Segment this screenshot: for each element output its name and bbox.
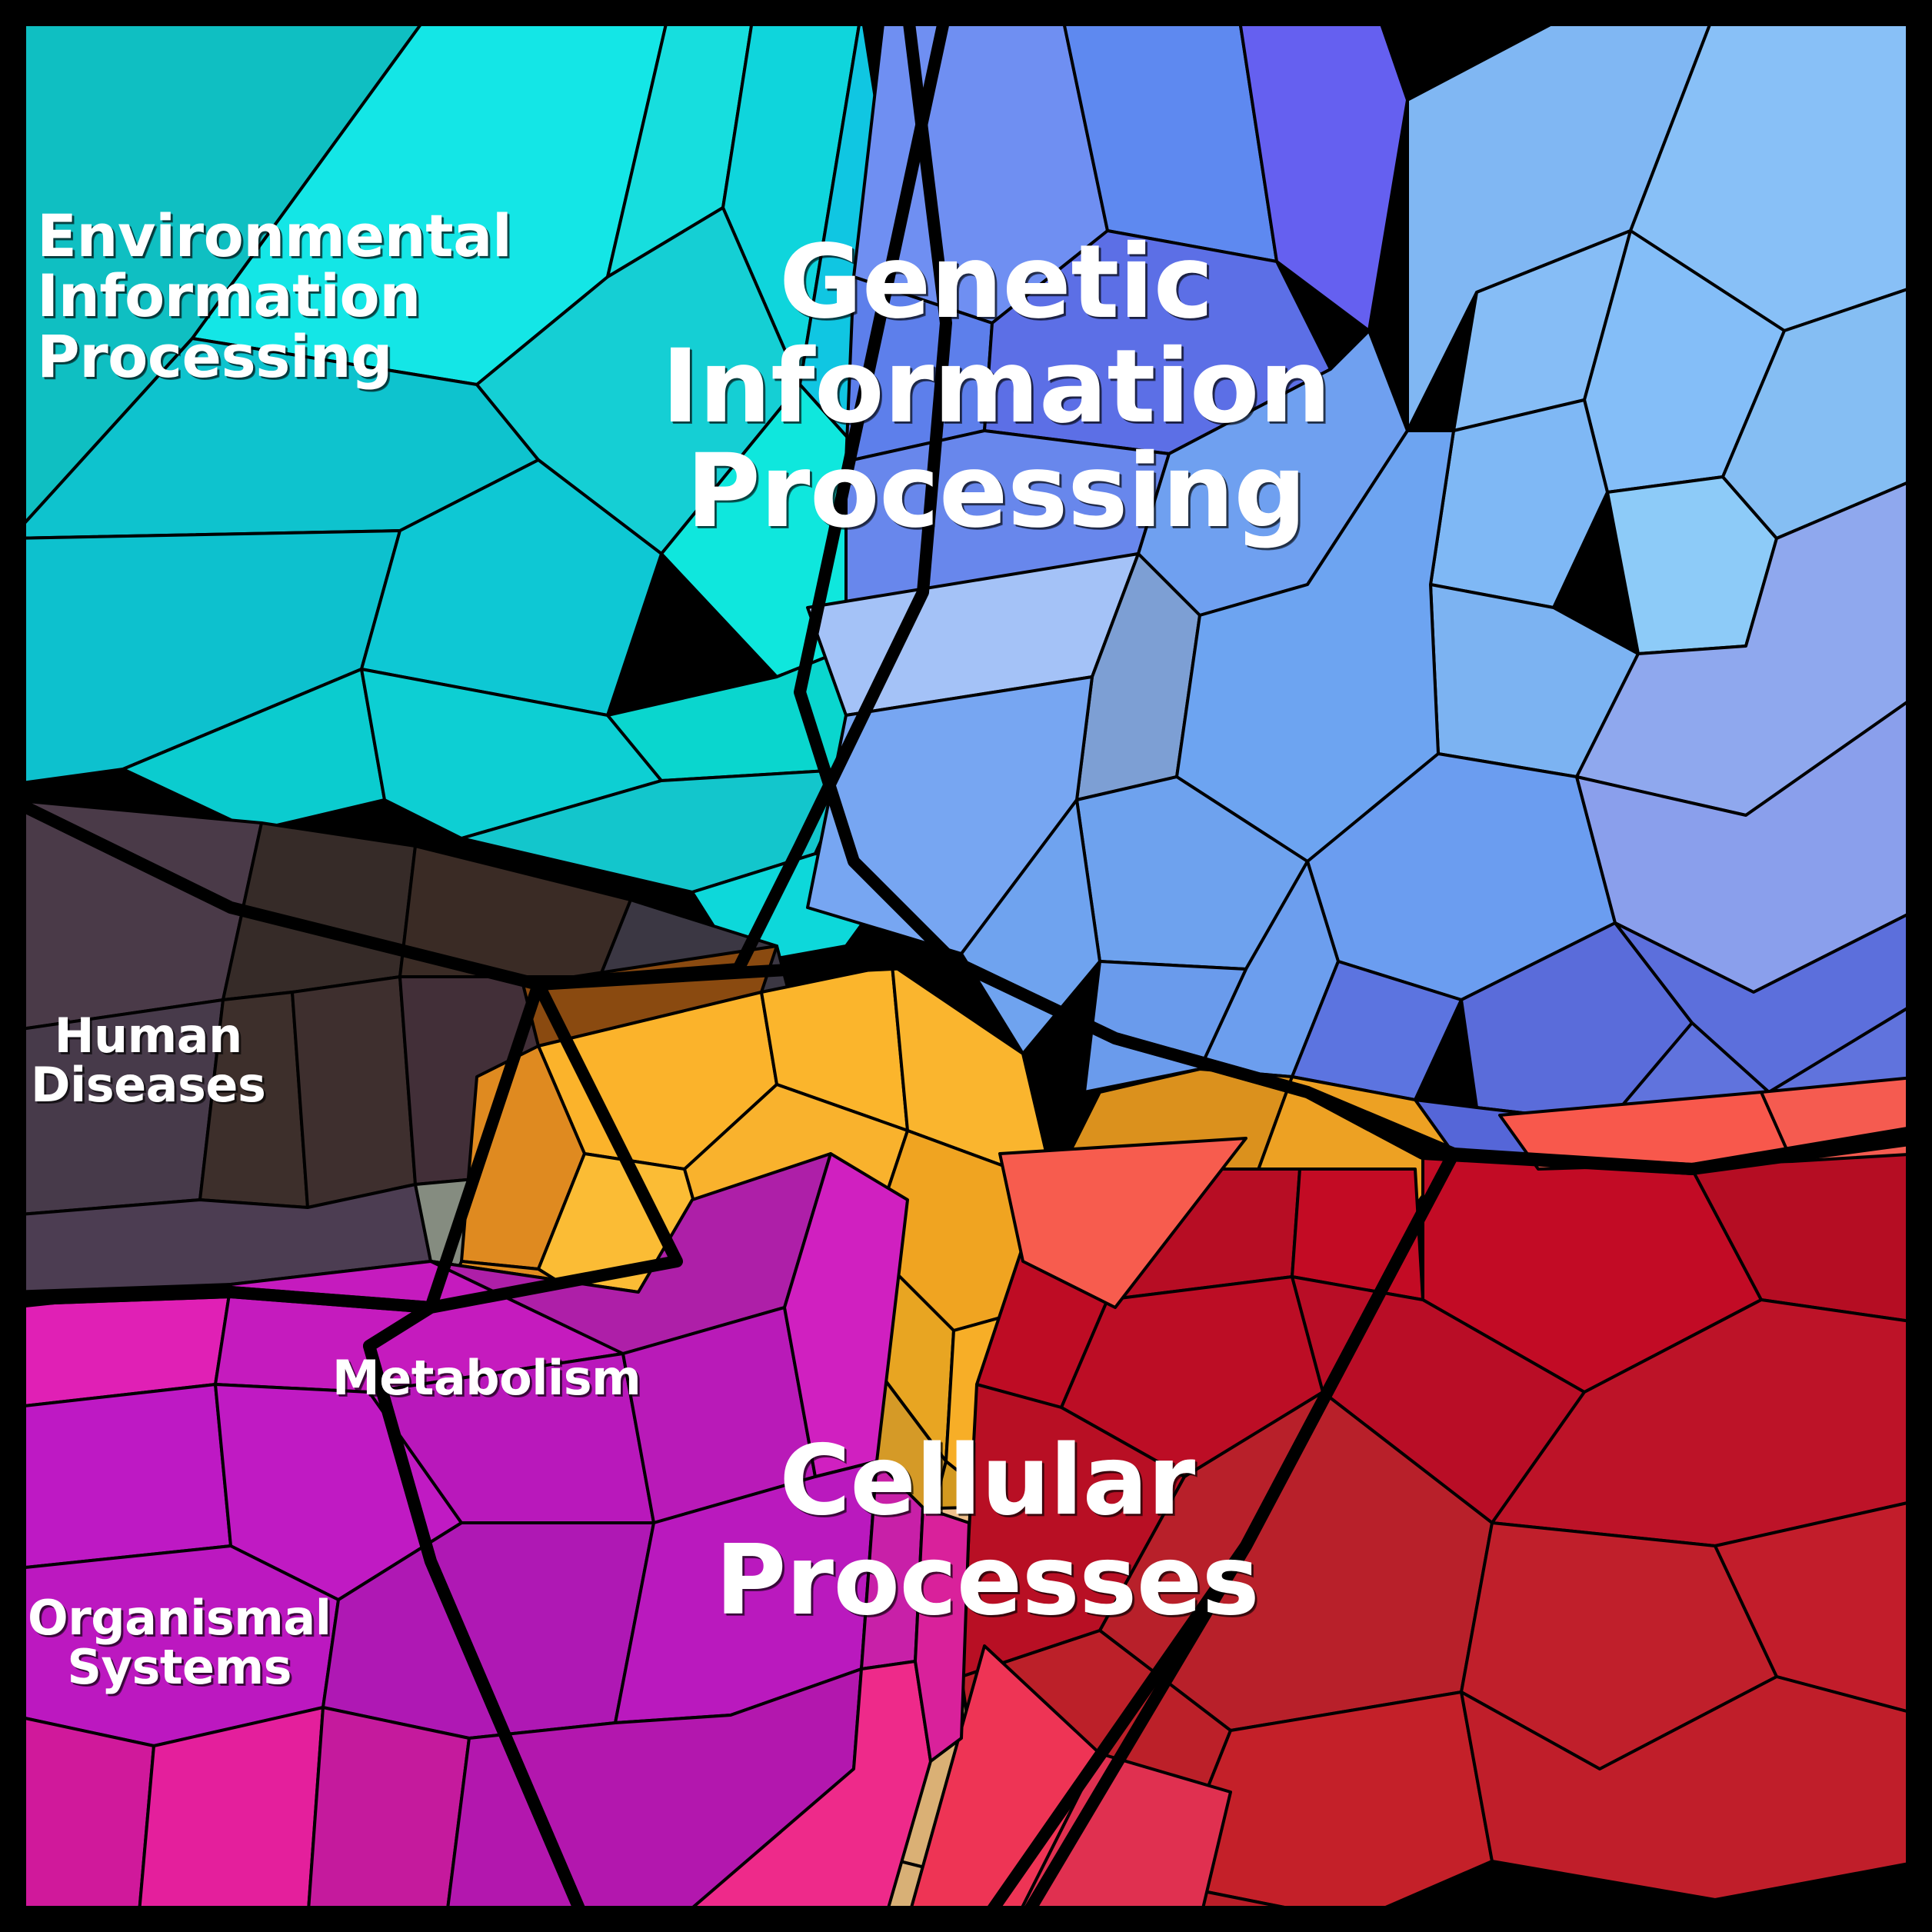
treemap-leaf-cell[interactable]: [915, 1507, 969, 1761]
treemap-leaf-cell[interactable]: [11, 1000, 223, 1215]
treemap-leaf-cell[interactable]: [11, 1384, 231, 1569]
treemap-leaf-cell[interactable]: [292, 977, 415, 1207]
treemap-canvas: [0, 0, 1932, 1932]
voronoi-treemap-figure: Environmental Information Processing Gen…: [0, 0, 1932, 1932]
treemap-leaf-cell[interactable]: [308, 1707, 469, 1921]
treemap-leaf-cell[interactable]: [11, 1715, 154, 1921]
